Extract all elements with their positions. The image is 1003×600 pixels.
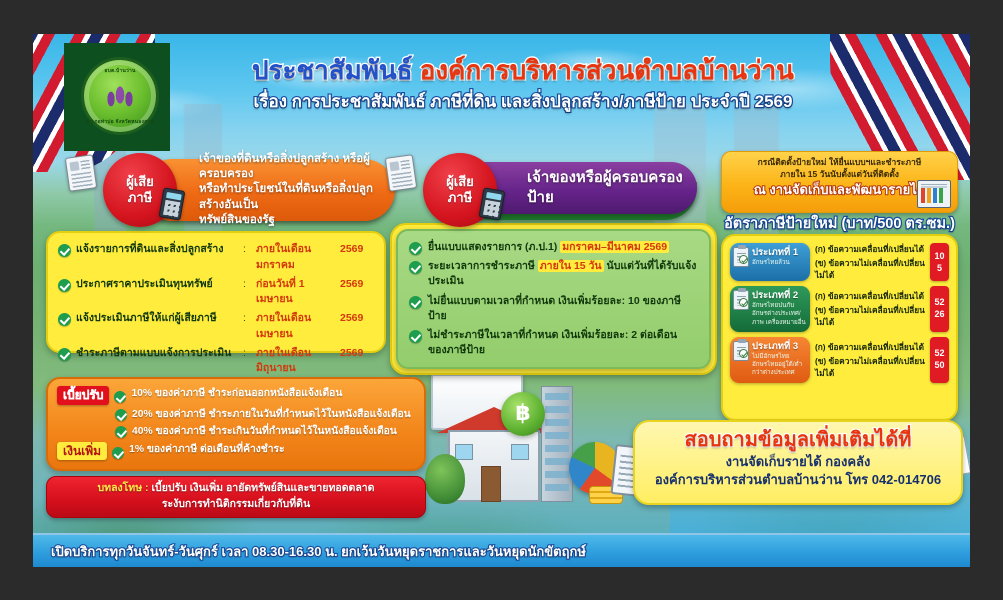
check-icon (409, 296, 422, 309)
organization-logo: อบต.บ้านว่าน อำเภอท่าบ่อ จังหวัดหนองคาย (64, 43, 170, 151)
schedule-when: ภายในเดือน เมษายน (256, 311, 335, 343)
tree-illustration (425, 454, 465, 504)
logo-ring-text-top: อบต.บ้านว่าน (84, 67, 156, 75)
sign-item-pre: ระยะเวลาการชำระภาษี (428, 260, 538, 272)
fine-row-1: 10% ของค่าภาษี ชำระก่อนออกหนังสือแจ้งเตื… (131, 386, 342, 401)
punishment-line-2: ระงับการทำนิติกรรมเกี่ยวกับที่ดิน (55, 497, 417, 513)
surcharge-row-1: 1% ของค่าภาษี ต่อเดือนที่ค้างชำระ (129, 442, 285, 457)
schedule-when: ก่อนวันที่ 1 เมษายน (256, 277, 335, 309)
sign-tax-details-panel: ยื่นแบบแสดงรายการ (ภ.ป.1) มกราคม–มีนาคม … (396, 229, 711, 369)
check-icon (409, 242, 422, 255)
table-row: แจ้งรายการที่ดินและสิ่งปลูกสร้าง : ภายใน… (58, 242, 374, 274)
rate-type-title: ประเภทที่ 1 (752, 247, 806, 259)
new-sign-notice-box: กรณีติดตั้งป้ายใหม่ ให้ยื่นแบบฯและชำระภา… (721, 151, 958, 213)
rate-value-a: 52 (934, 349, 944, 358)
rate-type-1: ประเภทที่ 1 อักษรไทยล้วน (730, 243, 810, 281)
rate-type-desc: อักษรไทยล้วน (752, 259, 806, 267)
land-payer-line-1: เจ้าของที่ดินหรือสิ่งปลูกสร้าง หรือผู้คร… (199, 152, 381, 182)
rate-value-b: 26 (934, 310, 944, 319)
rate-item-a: (ก) ข้อความเคลื่อนที่/เปลี่ยนได้ (815, 341, 925, 353)
contact-line-2: องค์การบริหารส่วนตำบลบ้านว่าน โทร 042-01… (645, 471, 951, 489)
punishment-label: บทลงโทษ : (98, 482, 149, 494)
document-icon-land (65, 154, 97, 192)
sign-item-text: ระยะเวลาการชำระภาษี ภายใน 15 วัน นับแต่ว… (428, 259, 698, 289)
contact-box: สอบถามข้อมูลเพิ่มเติมได้ที่ งานจัดเก็บรา… (633, 420, 963, 505)
rate-item-b: (ข) ข้อความไม่เคลื่อนที่/เปลี่ยนไม่ได้ (815, 304, 925, 328)
check-icon (409, 261, 422, 274)
land-payer-line-3: ทรัพย์สินของรัฐ (199, 213, 381, 228)
rate-type-3: ประเภทที่ 3 ไม่มีอักษรไทย อักษรไทยอยู่ใต… (730, 337, 810, 383)
land-badge-line-1: ผู้เสีย (126, 174, 154, 190)
punishment-line-1: บทลงโทษ : เบี้ยปรับ เงินเพิ่ม อายัดทรัพย… (55, 481, 417, 497)
check-icon (739, 349, 748, 358)
check-icon (739, 298, 748, 307)
penalty-panel: เบี้ยปรับ 10% ของค่าภาษี ชำระก่อนออกหนัง… (46, 377, 426, 471)
sign-item-text: ไม่ชำระภาษีในเวลาที่กำหนด เงินเพิ่มร้อยล… (428, 328, 698, 358)
schedule-label: ชำระภาษีตามแบบแจ้งการประเมิน (76, 346, 238, 362)
check-icon (58, 244, 71, 257)
list-item: ยื่นแบบแสดงรายการ (ภ.ป.1) มกราคม–มีนาคม … (409, 240, 698, 255)
list-item: ระยะเวลาการชำระภาษี ภายใน 15 วัน นับแต่ว… (409, 259, 698, 289)
house-door-illustration (481, 466, 501, 502)
schedule-year: 2569 (340, 277, 374, 293)
sign-item-text: ไม่ยื่นแบบตามเวลาที่กำหนด เงินเพิ่มร้อยล… (428, 294, 698, 324)
schedule-when: ภายในเดือน มิถุนายน (256, 346, 335, 378)
sign-badge-line-1: ผู้เสีย (446, 174, 474, 190)
schedule-label: ประกาศราคาประเมินทุนทรัพย์ (76, 277, 238, 293)
rate-type-desc: อักษรไทยปนกับอักษรต่างประเทศ/ภาพ เครื่อง… (752, 302, 806, 327)
table-row: ประกาศราคาประเมินทุนทรัพย์ : ก่อนวันที่ … (58, 277, 374, 309)
rate-value-b: 5 (937, 264, 942, 273)
check-icon (114, 391, 126, 403)
check-icon (115, 409, 127, 421)
contact-line-1: งานจัดเก็บรายได้ กองคลัง (645, 453, 951, 471)
logo-temple-motif-icon (103, 81, 137, 111)
notice-line-1: กรณีติดตั้งป้ายใหม่ ให้ยื่นแบบฯและชำระภา… (730, 157, 949, 169)
table-row: ประเภทที่ 1 อักษรไทยล้วน (ก) ข้อความเคลื… (730, 243, 949, 281)
rate-type-title: ประเภทที่ 2 (752, 290, 806, 302)
rate-value-a: 52 (934, 298, 944, 307)
schedule-when: ภายในเดือน มกราคม (256, 242, 335, 274)
list-item: เงินเพิ่ม 1% ของค่าภาษี ต่อเดือนที่ค้างช… (57, 442, 415, 461)
schedule-colon: : (243, 346, 251, 362)
rate-table-title: อัตราภาษีป้ายใหม่ (บาท/500 ตร.ซม.) (721, 212, 958, 235)
list-item: 40% ของค่าภาษี ชำระเกินวันที่กำหนดไว้ในห… (57, 424, 415, 439)
schedule-year: 2569 (340, 346, 374, 362)
rate-value-badge: 52 26 (930, 286, 949, 332)
sign-item-pre: ยื่นแบบแสดงรายการ (ภ.ป.1) (428, 241, 560, 253)
list-item: เบี้ยปรับ 10% ของค่าภาษี ชำระก่อนออกหนัง… (57, 386, 415, 405)
rate-type-2: ประเภทที่ 2 อักษรไทยปนกับอักษรต่างประเทศ… (730, 286, 810, 332)
table-row: แจ้งประเมินภาษีให้แก่ผู้เสียภาษี : ภายใน… (58, 311, 374, 343)
rate-value-a: 10 (934, 252, 944, 261)
service-hours-bar: เปิดบริการทุกวันจันทร์-วันศุกร์ เวลา 08.… (33, 533, 970, 567)
table-row: ประเภทที่ 2 อักษรไทยปนกับอักษรต่างประเทศ… (730, 286, 949, 332)
fine-tag: เบี้ยปรับ (57, 386, 109, 405)
poster-canvas: อบต.บ้านว่าน อำเภอท่าบ่อ จังหวัดหนองคาย … (33, 34, 970, 567)
rate-value-badge: 52 50 (930, 337, 949, 383)
rate-item-b: (ข) ข้อความไม่เคลื่อนที่/เปลี่ยนไม่ได้ (815, 355, 925, 379)
table-row: ประเภทที่ 3 ไม่มีอักษรไทย อักษรไทยอยู่ใต… (730, 337, 949, 383)
land-payer-line-2: หรือทำประโยชน์ในที่ดินหรือสิ่งปลูกสร้างอ… (199, 182, 381, 212)
list-item: 20% ของค่าภาษี ชำระภายในวันที่กำหนดไว้ใน… (57, 407, 415, 422)
sign-rate-table: ประเภทที่ 1 อักษรไทยล้วน (ก) ข้อความเคลื… (721, 234, 958, 421)
rate-item-b: (ข) ข้อความไม่เคลื่อนที่/เปลี่ยนไม่ได้ (815, 257, 925, 281)
page-title-blue-segment: ประชาสัมพันธ์ (252, 55, 420, 85)
check-icon (115, 426, 127, 438)
rate-type-desc: ไม่มีอักษรไทย อักษรไทยอยู่ใต้/ต่ำกว่าต่า… (752, 353, 806, 378)
fine-row-2: 20% ของค่าภาษี ชำระภายในวันที่กำหนดไว้ใน… (132, 407, 411, 422)
document-icon-sign (385, 154, 417, 192)
baht-coin-icon (501, 392, 545, 436)
schedule-year: 2569 (340, 242, 374, 258)
sign-item-highlight: ภายใน 15 วัน (538, 260, 604, 272)
service-hours-text: เปิดบริการทุกวันจันทร์-วันศุกร์ เวลา 08.… (51, 541, 586, 562)
schedule-colon: : (243, 311, 251, 327)
table-row: ชำระภาษีตามแบบแจ้งการประเมิน : ภายในเดือ… (58, 346, 374, 378)
schedule-label: แจ้งรายการที่ดินและสิ่งปลูกสร้าง (76, 242, 238, 258)
bar-chart-monitor-icon (917, 180, 951, 208)
fine-row-3: 40% ของค่าภาษี ชำระเกินวันที่กำหนดไว้ในห… (132, 424, 397, 439)
list-item: ไม่ยื่นแบบตามเวลาที่กำหนด เงินเพิ่มร้อยล… (409, 294, 698, 324)
page-title-red-segment: องค์การบริหารส่วนตำบลบ้านว่าน (420, 55, 794, 85)
land-badge-line-2: ภาษี (128, 190, 152, 206)
check-icon (58, 348, 71, 361)
schedule-colon: : (243, 242, 251, 258)
schedule-year: 2569 (340, 311, 374, 327)
rate-value-badge: 10 5 (930, 243, 949, 281)
land-tax-schedule-panel: แจ้งรายการที่ดินและสิ่งปลูกสร้าง : ภายใน… (46, 231, 386, 353)
sign-payer-line: เจ้าของหรือผู้ครอบครองป้าย (527, 168, 683, 208)
check-icon (58, 279, 71, 292)
logo-ring-text-bottom: อำเภอท่าบ่อ จังหวัดหนองคาย (84, 118, 156, 126)
sign-item-highlight: มกราคม–มีนาคม 2569 (560, 241, 669, 253)
contact-heading: สอบถามข้อมูลเพิ่มเติมได้ที่ (645, 428, 951, 453)
rate-item-list: (ก) ข้อความเคลื่อนที่/เปลี่ยนได้ (ข) ข้อ… (815, 337, 925, 383)
rate-item-list: (ก) ข้อความเคลื่อนที่/เปลี่ยนได้ (ข) ข้อ… (815, 243, 925, 281)
rate-value-b: 50 (934, 361, 944, 370)
header: ประชาสัมพันธ์ องค์การบริหารส่วนตำบลบ้านว… (178, 56, 868, 115)
rate-item-a: (ก) ข้อความเคลื่อนที่/เปลี่ยนได้ (815, 243, 925, 255)
schedule-label: แจ้งประเมินภาษีให้แก่ผู้เสียภาษี (76, 311, 238, 327)
logo-seal-icon: อบต.บ้านว่าน อำเภอท่าบ่อ จังหวัดหนองคาย (81, 57, 159, 135)
notice-line-2: ภายใน 15 วันนับตั้งแต่วันที่ติดตั้ง (730, 169, 949, 181)
schedule-colon: : (243, 277, 251, 293)
punishment-text-1: เบี้ยปรับ เงินเพิ่ม อายัดทรัพย์สินและขาย… (149, 482, 375, 494)
rate-type-title: ประเภทที่ 3 (752, 341, 806, 353)
check-icon (58, 313, 71, 326)
house-window-left-illustration (455, 444, 473, 460)
list-item: ไม่ชำระภาษีในเวลาที่กำหนด เงินเพิ่มร้อยล… (409, 328, 698, 358)
check-icon (409, 330, 422, 343)
house-window-right-illustration (511, 444, 529, 460)
building-tower-illustration (541, 386, 573, 502)
rate-item-list: (ก) ข้อความเคลื่อนที่/เปลี่ยนได้ (ข) ข้อ… (815, 286, 925, 332)
check-icon (739, 255, 748, 264)
sign-badge-line-2: ภาษี (448, 190, 472, 206)
punishment-bar: บทลงโทษ : เบี้ยปรับ เงินเพิ่ม อายัดทรัพย… (46, 476, 426, 518)
sign-item-text: ยื่นแบบแสดงรายการ (ภ.ป.1) มกราคม–มีนาคม … (428, 240, 669, 255)
check-icon (112, 447, 124, 459)
rate-item-a: (ก) ข้อความเคลื่อนที่/เปลี่ยนได้ (815, 290, 925, 302)
page-subtitle: เรื่อง การประชาสัมพันธ์ ภาษีที่ดิน และสิ… (178, 88, 868, 115)
page-title: ประชาสัมพันธ์ องค์การบริหารส่วนตำบลบ้านว… (178, 56, 868, 85)
surcharge-tag: เงินเพิ่ม (57, 442, 107, 461)
